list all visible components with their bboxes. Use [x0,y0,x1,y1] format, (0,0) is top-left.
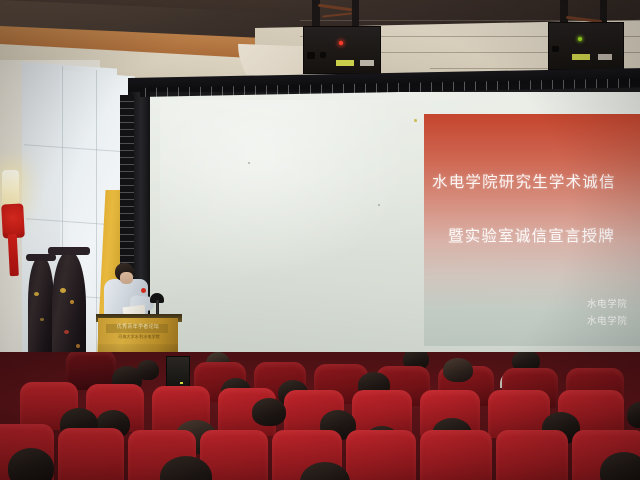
projector-mount-right [600,0,607,22]
slide-org-line-2: 水电学院 [587,313,640,327]
screen-speck [378,204,380,206]
podium-banner-bottom: 河海大学水利水电学院 [104,334,174,342]
audience-head [8,448,54,480]
vase-red-fleck [64,330,69,334]
projector-mount-left [352,0,359,28]
projector-label [336,60,354,66]
audience-head [627,402,640,428]
audience-head [443,358,473,382]
audience-head [252,398,286,426]
projector-power-led [339,41,343,45]
projector-label [598,54,612,60]
seat [496,430,568,480]
projector-right [548,22,624,70]
equipment-rack [166,356,190,390]
slide-subtitle-line: 暨实验室诚信宣言授牌 [448,224,640,246]
projected-slide: 水电学院研究生学术诚信 暨实验室诚信宣言授牌 水电学院 水电学院 [424,114,640,346]
projector-lens [307,52,315,59]
projector-vent [320,52,326,58]
projector-mount-right [560,0,568,24]
vase-gold-fleck [60,288,66,293]
vase-gold-fleck [70,300,74,304]
seat [420,430,492,480]
projector-label [572,54,590,60]
seat [58,428,124,480]
panel-seam [96,70,97,370]
projector-lens [552,46,559,52]
slide-org-line-1: 水电学院 [587,296,640,310]
auditorium-photo: 水电学院研究生学术诚信 暨实验室诚信宣言授牌 水电学院 水电学院 优秀青年学者论… [0,0,640,480]
projector-label [360,60,374,66]
projector-left [303,26,381,74]
equipment-led [180,382,183,384]
screen-indicator-dot [414,119,417,122]
vase-gold-fleck [40,318,44,321]
screen-speck [248,162,250,164]
audience-area [0,352,640,480]
wall-sconce-light [2,170,19,206]
slide-title-line: 水电学院研究生学术诚信 [432,170,640,192]
vase-gold-fleck [34,292,39,296]
vase-gold-fleck [76,344,80,348]
speaker-face [120,272,133,284]
vase-rim [26,254,56,261]
podium-banner-top: 优秀青年学者论坛 [108,323,168,331]
podium-red-marker [141,288,146,293]
chinese-knot-decoration [1,203,25,238]
vase-rim [48,247,90,255]
projector-power-led [578,37,582,41]
seat [346,430,416,480]
